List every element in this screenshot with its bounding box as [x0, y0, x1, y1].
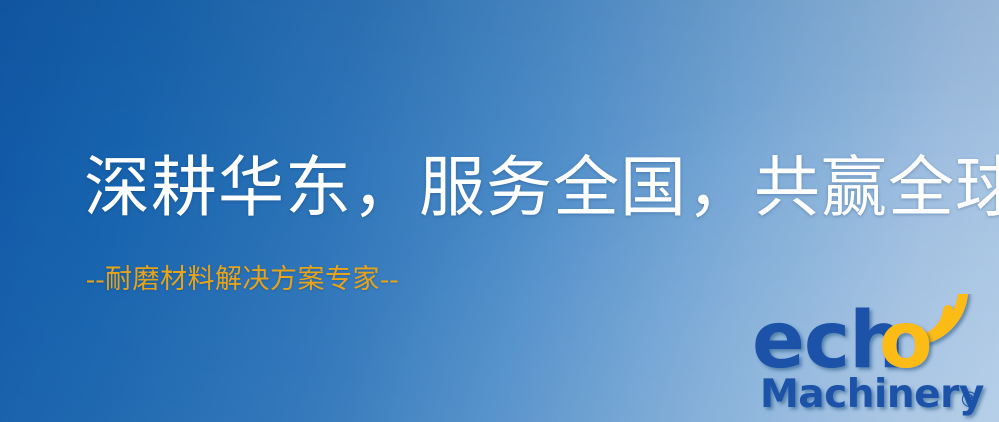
echo-machinery-logo[interactable]: ech o Machinery ®	[746, 294, 999, 422]
hero-banner: 深耕华东，服务全国，共赢全球 --耐磨材料解决方案专家-- ech o Mach…	[0, 0, 999, 422]
logo-trademark: ®	[959, 388, 980, 412]
logo-subbrand: Machinery	[760, 372, 984, 417]
banner-subtitle: --耐磨材料解决方案专家--	[86, 266, 399, 293]
banner-headline: 深耕华东，服务全国，共赢全球	[84, 156, 999, 222]
